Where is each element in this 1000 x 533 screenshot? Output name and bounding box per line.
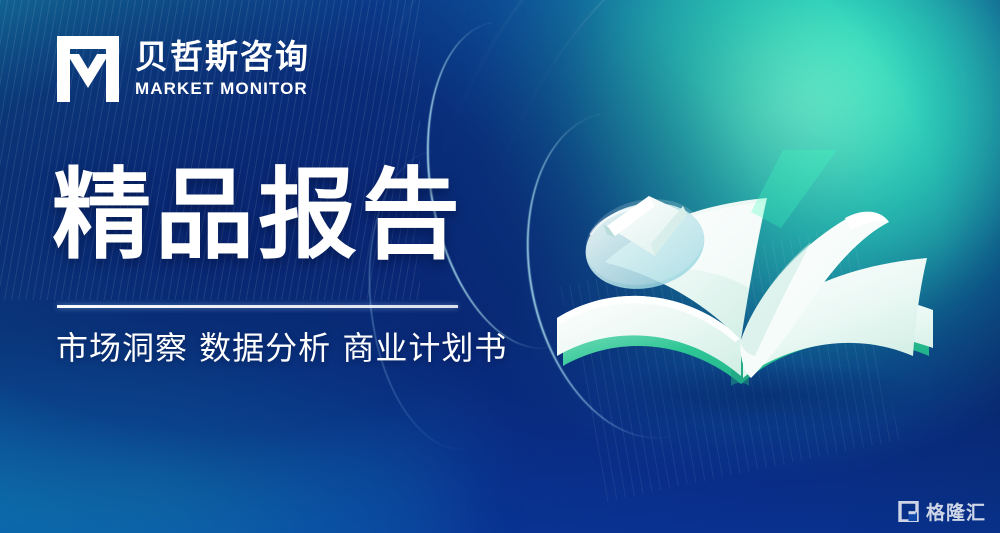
- brand-name-cn: 贝哲斯咨询: [135, 39, 310, 75]
- gelonghui-g-logo-icon: [898, 501, 919, 522]
- promo-banner: 贝哲斯咨询 MARKET MONITOR 精品报告 市场洞察 数据分析 商业计划…: [0, 0, 1000, 533]
- bracket-m-logo-icon: [57, 36, 119, 102]
- page-subtitle: 市场洞察 数据分析 商业计划书: [56, 328, 507, 370]
- watermark-label: 格隆汇: [926, 498, 986, 525]
- open-book-with-lens-icon: [545, 150, 945, 430]
- watermark: 格隆汇: [898, 498, 986, 525]
- page-title: 精品报告: [52, 166, 464, 265]
- brand-text-group: 贝哲斯咨询 MARKET MONITOR: [135, 39, 310, 99]
- title-divider: [57, 305, 458, 308]
- brand-name-en: MARKET MONITOR: [135, 79, 310, 99]
- logo-lockup: 贝哲斯咨询 MARKET MONITOR: [57, 36, 310, 102]
